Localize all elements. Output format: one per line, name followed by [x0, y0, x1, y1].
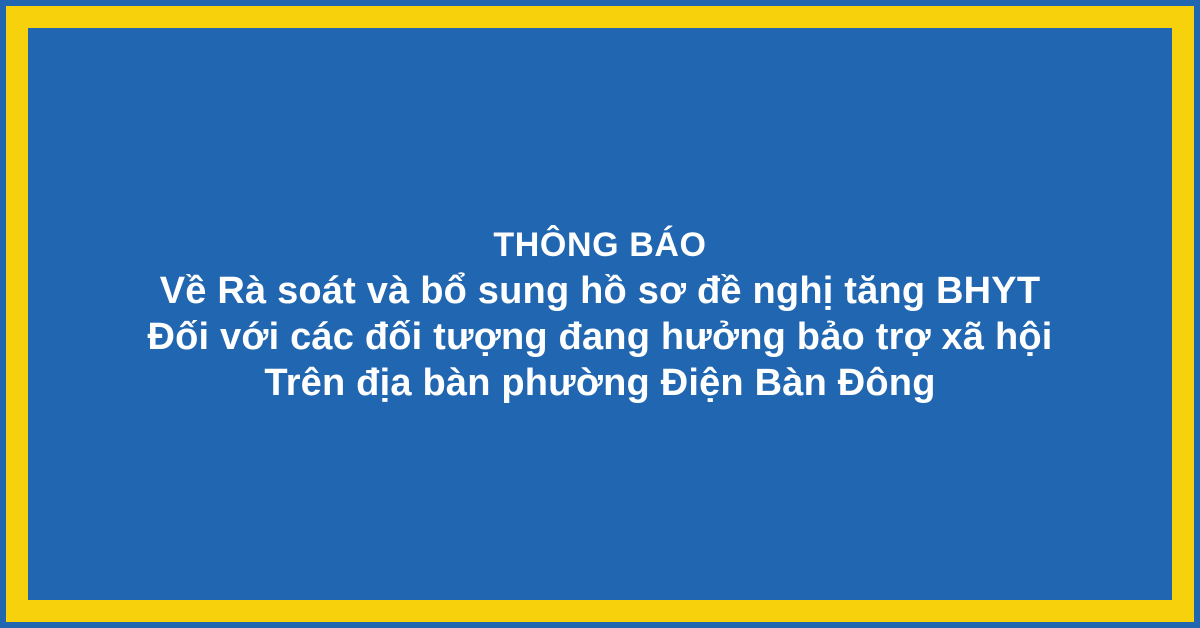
announcement-subtitle-line-2: Đối với các đối tượng đang hưởng bảo trợ…: [28, 314, 1172, 360]
announcement-poster: THÔNG BÁO Về Rà soát và bổ sung hồ sơ đề…: [0, 0, 1200, 628]
announcement-subtitle-line-1: Về Rà soát và bổ sung hồ sơ đề nghị tăng…: [28, 268, 1172, 314]
announcement-text-block: THÔNG BÁO Về Rà soát và bổ sung hồ sơ đề…: [28, 222, 1172, 406]
yellow-border-frame: THÔNG BÁO Về Rà soát và bổ sung hồ sơ đề…: [6, 6, 1194, 622]
poster-content-panel: THÔNG BÁO Về Rà soát và bổ sung hồ sơ đề…: [28, 28, 1172, 600]
announcement-title: THÔNG BÁO: [28, 222, 1172, 268]
announcement-subtitle-line-3: Trên địa bàn phường Điện Bàn Đông: [28, 360, 1172, 406]
